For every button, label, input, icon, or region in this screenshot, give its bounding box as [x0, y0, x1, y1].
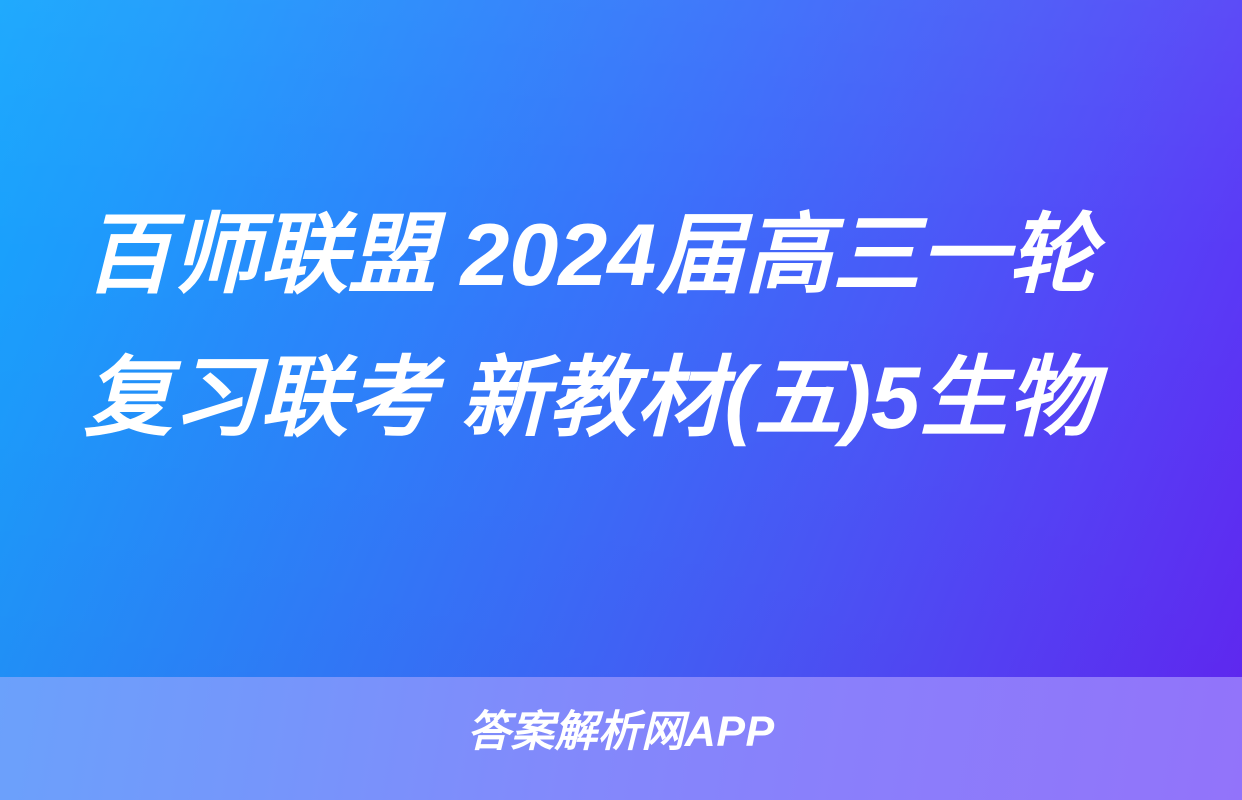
page-title: 百师联盟 2024届高三一轮复习联考 新教材(五)5生物 — [84, 183, 1164, 469]
exam-cover-card: 百师联盟 2024届高三一轮复习联考 新教材(五)5生物 答案解析网APP — [0, 0, 1242, 800]
footer-brand-label: 答案解析网APP — [0, 706, 1242, 758]
